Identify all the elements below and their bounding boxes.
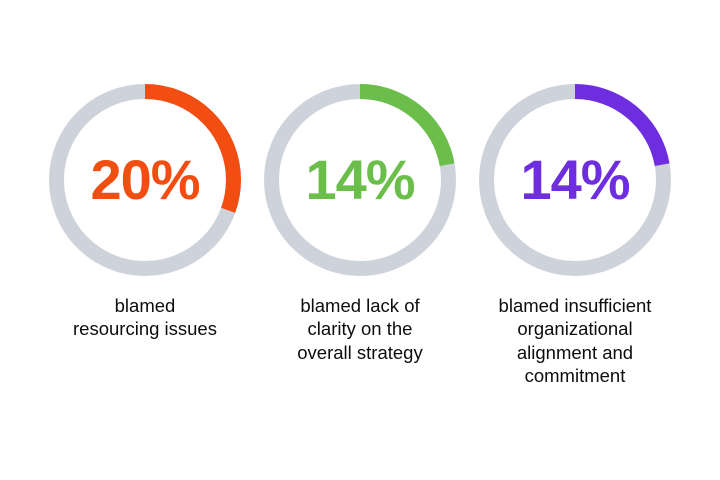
caption-line: blamed insufficient bbox=[499, 294, 652, 317]
donut-chart-resourcing-issues: 20% bbox=[47, 82, 243, 278]
caption-line: blamed lack of bbox=[297, 294, 422, 317]
stat-card-organizational-alignment: 14% blamed insufficient organizational a… bbox=[468, 82, 683, 387]
stat-caption-2: blamed lack of clarity on the overall st… bbox=[297, 294, 422, 364]
stat-card-lack-of-clarity: 14% blamed lack of clarity on the overal… bbox=[253, 82, 468, 364]
donut-value-label-2: 14% bbox=[262, 82, 458, 278]
caption-line: blamed bbox=[73, 294, 217, 317]
caption-line: commitment bbox=[499, 364, 652, 387]
donut-value-label-3: 14% bbox=[477, 82, 673, 278]
stat-caption-3: blamed insufficient organizational align… bbox=[499, 294, 652, 387]
infographic-container: 20% blamed resourcing issues 14% blamed … bbox=[0, 0, 720, 480]
caption-line: resourcing issues bbox=[73, 317, 217, 340]
caption-line: overall strategy bbox=[297, 341, 422, 364]
donut-value-label-1: 20% bbox=[47, 82, 243, 278]
caption-line: organizational bbox=[499, 317, 652, 340]
caption-line: clarity on the bbox=[297, 317, 422, 340]
caption-line: alignment and bbox=[499, 341, 652, 364]
donut-chart-organizational-alignment: 14% bbox=[477, 82, 673, 278]
stat-card-resourcing-issues: 20% blamed resourcing issues bbox=[38, 82, 253, 341]
stat-caption-1: blamed resourcing issues bbox=[73, 294, 217, 341]
donut-chart-lack-of-clarity: 14% bbox=[262, 82, 458, 278]
